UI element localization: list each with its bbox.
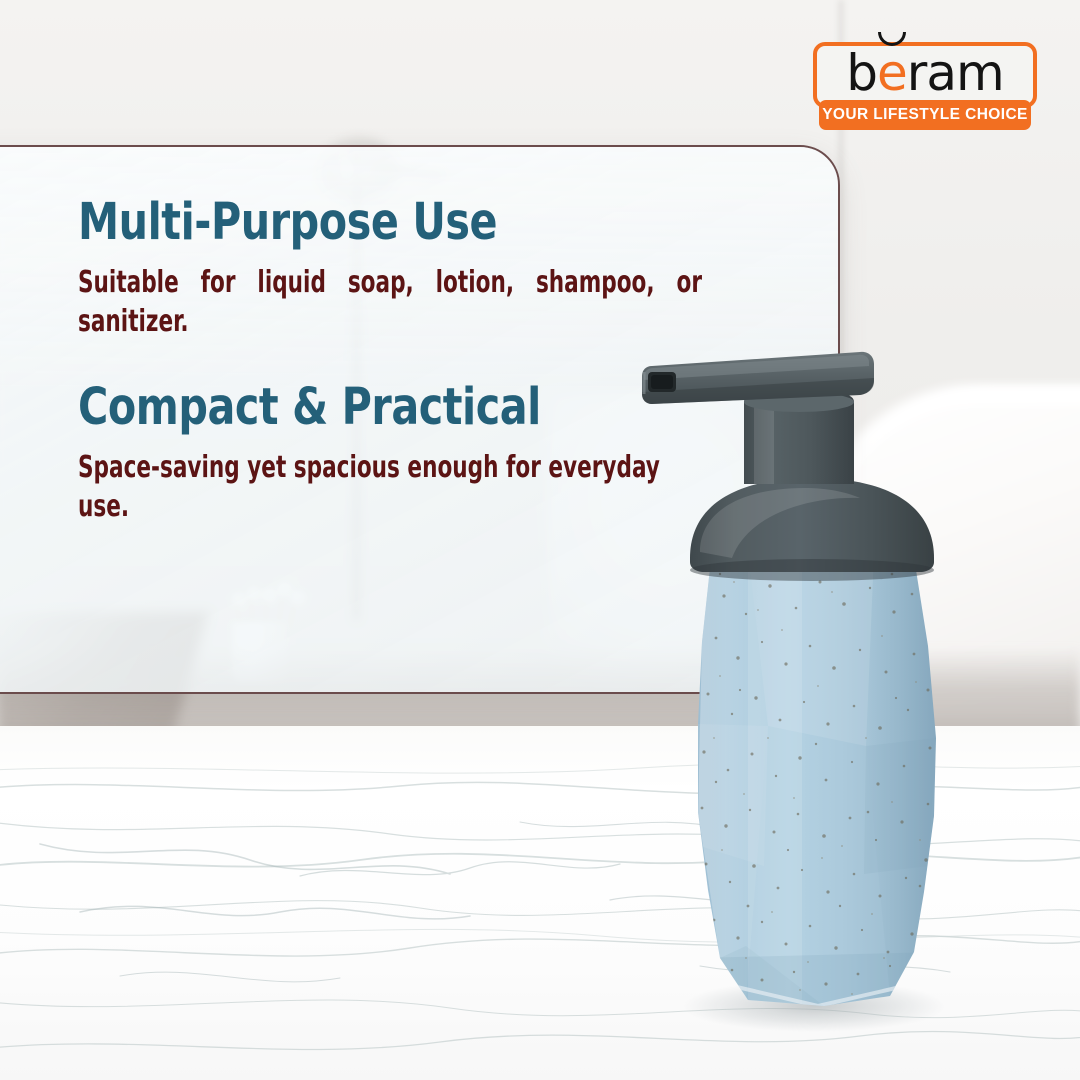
logo-tagline: YOUR LIFESTYLE CHOICE bbox=[819, 100, 1031, 130]
feature-body-2: Space-saving yet spacious enough for eve… bbox=[78, 448, 702, 526]
logo-wordmark: beram bbox=[813, 40, 1037, 106]
logo-letter-e-breve: e bbox=[877, 48, 907, 98]
product-image-soap-dispenser bbox=[628, 346, 988, 1058]
feature-block-2: Compact & Practical Space-saving yet spa… bbox=[78, 381, 698, 526]
feature-heading-1: Multi-Purpose Use bbox=[78, 196, 636, 249]
feature-block-1: Multi-Purpose Use Suitable for liquid so… bbox=[78, 196, 698, 341]
feature-body-1: Suitable for liquid soap, lotion, shampo… bbox=[78, 263, 702, 341]
product-feature-banner: Multi-Purpose Use Suitable for liquid so… bbox=[0, 0, 1080, 1080]
breve-accent-icon bbox=[878, 32, 906, 46]
logo-letter-b: b bbox=[846, 48, 877, 98]
feature-heading-2: Compact & Practical bbox=[78, 381, 636, 434]
brand-logo[interactable]: beram YOUR LIFESTYLE CHOICE bbox=[813, 42, 1037, 138]
logo-letters-ram: ram bbox=[907, 48, 1004, 98]
feature-copy: Multi-Purpose Use Suitable for liquid so… bbox=[78, 196, 698, 526]
